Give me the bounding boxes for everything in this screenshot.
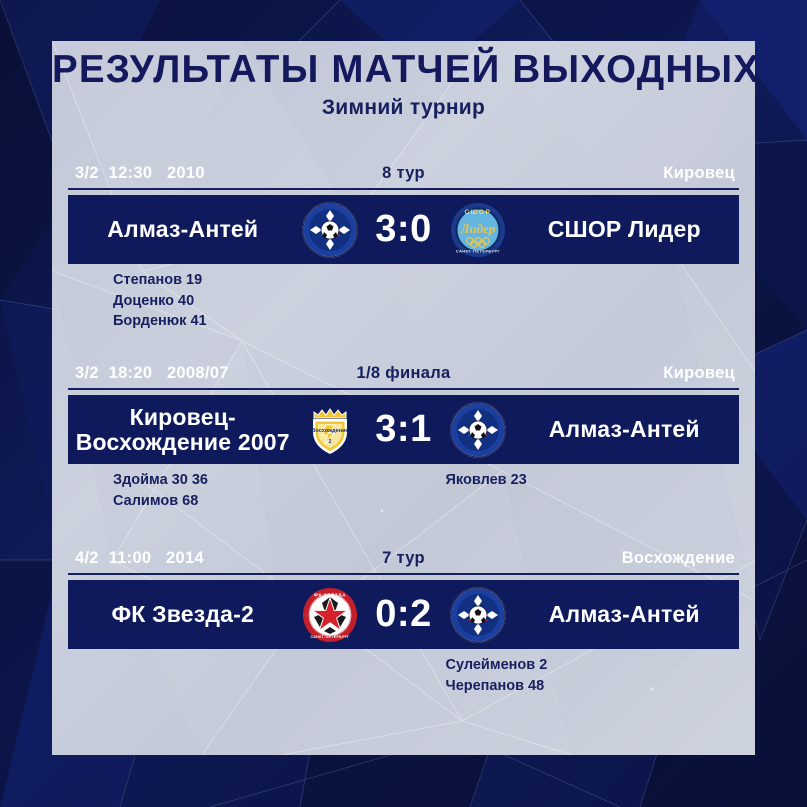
svg-text:Лидер: Лидер [459, 221, 495, 236]
match-venue: Кировец [663, 164, 735, 183]
scorer-entry: Салимов 68 [113, 491, 407, 512]
match-scoreline: ФК Звезда-2 ФК ЗВЕЗДА САНКТ-ПЕТЕРБУРГ 0:… [68, 580, 739, 649]
svg-text:ФК ЗВЕЗДА: ФК ЗВЕЗДА [313, 592, 345, 597]
scorer-entry: Яковлев 23 [446, 470, 740, 491]
match-header: 4/2 11:00 2014 7 тур Восхождение [68, 549, 739, 575]
match-scoreline: Алмаз-Антей 3:0 СШОР Лидер [68, 195, 739, 264]
scorers-row: Степанов 19Доценко 40Борденюк 41 [68, 270, 739, 332]
zvezda-crest-icon: ФК ЗВЕЗДА САНКТ-ПЕТЕРБУРГ [302, 587, 358, 643]
match-score: 3:1 [358, 408, 450, 451]
match-score: 0:2 [358, 593, 450, 636]
scorer-entry: Здойма 30 36 [113, 470, 407, 491]
away-team-name: Алмаз-Антей [506, 602, 740, 627]
match-venue: Кировец [663, 364, 735, 383]
match-venue: Восхождение [622, 549, 735, 568]
title-block: РЕЗУЛЬТАТЫ МАТЧЕЙ ВЫХОДНЫХ Зимний турнир [52, 50, 755, 120]
scorer-entry: Черепанов 48 [446, 676, 740, 697]
match-round: 8 тур [68, 164, 739, 183]
match-header: 3/2 18:20 2008/07 1/8 финала Кировец [68, 364, 739, 390]
home-scorers [68, 655, 407, 696]
home-scorers: Степанов 19Доценко 40Борденюк 41 [68, 270, 407, 332]
page-subtitle: Зимний турнир [52, 96, 755, 120]
away-team-name: СШОР Лидер [506, 217, 740, 242]
match-header: 3/2 12:30 2010 8 тур Кировец [68, 164, 739, 190]
match-card: 3/2 18:20 2008/07 1/8 финала Кировец Кир… [52, 364, 755, 511]
poster-root: РЕЗУЛЬТАТЫ МАТЧЕЙ ВЫХОДНЫХ Зимний турнир… [0, 0, 807, 807]
page-title: РЕЗУЛЬТАТЫ МАТЧЕЙ ВЫХОДНЫХ [52, 50, 755, 90]
away-scorers: Яковлев 23 [407, 470, 740, 511]
voskhozhdenie-crest-icon: Восхождение 2 [302, 402, 358, 458]
svg-text:САНКТ-ПЕТЕРБУРГ: САНКТ-ПЕТЕРБУРГ [455, 248, 500, 253]
svg-text:2: 2 [328, 439, 331, 445]
almaz-antey-crest-icon [302, 202, 358, 258]
scorers-row: Сулейменов 2Черепанов 48 [68, 655, 739, 696]
match-score: 3:0 [358, 208, 450, 251]
almaz-antey-crest-icon [450, 402, 506, 458]
match-card: 4/2 11:00 2014 7 тур Восхождение ФК Звез… [52, 549, 755, 696]
svg-text:СШОР: СШОР [464, 209, 491, 216]
home-team-name: Кировец-Восхождение 2007 [68, 405, 302, 455]
match-scoreline: Кировец-Восхождение 2007 Восхождение 2 3… [68, 395, 739, 464]
home-team-name: ФК Звезда-2 [68, 602, 302, 627]
svg-text:САНКТ-ПЕТЕРБУРГ: САНКТ-ПЕТЕРБУРГ [310, 635, 349, 639]
away-scorers: Сулейменов 2Черепанов 48 [407, 655, 740, 696]
sshor-lider-crest-icon: СШОР Лидер САНКТ-ПЕТЕРБУРГ [450, 202, 506, 258]
results-panel: РЕЗУЛЬТАТЫ МАТЧЕЙ ВЫХОДНЫХ Зимний турнир… [52, 41, 755, 755]
away-team-name: Алмаз-Антей [506, 417, 740, 442]
away-scorers [407, 270, 740, 332]
scorer-entry: Доценко 40 [113, 291, 407, 312]
scorer-entry: Борденюк 41 [113, 311, 407, 332]
scorer-entry: Сулейменов 2 [446, 655, 740, 676]
svg-text:Восхождение: Восхождение [311, 428, 348, 434]
match-round: 1/8 финала [68, 364, 739, 383]
match-card: 3/2 12:30 2010 8 тур Кировец Алмаз-Антей [52, 164, 755, 332]
home-team-name: Алмаз-Антей [68, 217, 302, 242]
scorers-row: Здойма 30 36Салимов 68 Яковлев 23 [68, 470, 739, 511]
almaz-antey-crest-icon [450, 587, 506, 643]
home-scorers: Здойма 30 36Салимов 68 [68, 470, 407, 511]
scorer-entry: Степанов 19 [113, 270, 407, 291]
